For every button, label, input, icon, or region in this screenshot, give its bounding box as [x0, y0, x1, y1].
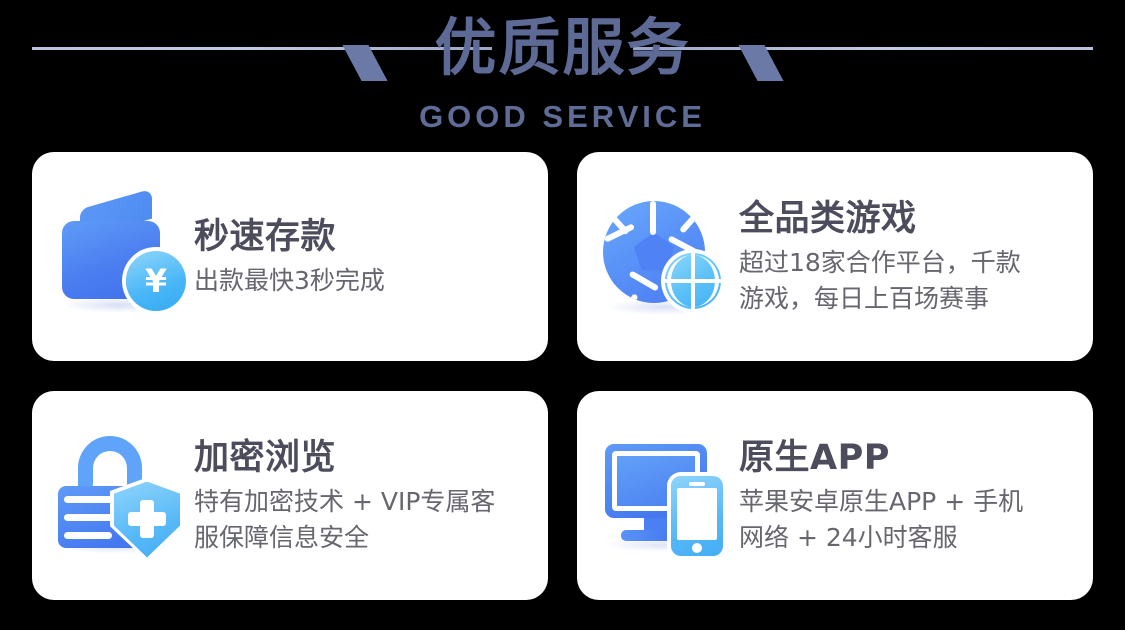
- feature-card-title: 加密浏览: [194, 436, 530, 480]
- feature-card-text: 全品类游戏 超过18家合作平台，千款 游戏，每日上百场赛事: [739, 197, 1075, 317]
- feature-card-subtitle-line: 苹果安卓原生APP + 手机: [739, 484, 1075, 520]
- basketball-seam: [667, 255, 719, 307]
- monitor-phone-icon: [599, 430, 731, 562]
- soccer-seam: [679, 210, 701, 233]
- feature-card-native-app[interactable]: 原生APP 苹果安卓原生APP + 手机 网络 + 24小时客服: [577, 391, 1093, 600]
- wallet-yen-icon: ¥: [54, 191, 186, 323]
- lock-slot: [64, 496, 116, 503]
- feature-card-subtitle-line: 服保障信息安全: [194, 520, 530, 556]
- feature-card-title: 全品类游戏: [739, 197, 1075, 241]
- feature-card-games[interactable]: 全品类游戏 超过18家合作平台，千款 游戏，每日上百场赛事: [577, 152, 1093, 361]
- feature-card-subtitle-line: 出款最快3秒完成: [194, 263, 530, 299]
- soccer-seam: [650, 201, 656, 235]
- basketball-icon: [665, 253, 721, 309]
- phone-speaker: [689, 482, 705, 486]
- phone-icon: [671, 476, 723, 556]
- phone-home-button: [692, 543, 702, 553]
- page-subtitle: GOOD SERVICE: [0, 98, 1125, 136]
- yen-coin-icon: ¥: [126, 251, 186, 311]
- feature-card-text: 加密浏览 特有加密技术 + VIP专属客 服保障信息安全: [194, 436, 530, 556]
- feature-card-title: 原生APP: [739, 436, 1075, 480]
- feature-card-subtitle-line: 特有加密技术 + VIP专属客: [194, 484, 530, 520]
- feature-card-text: 秒速存款 出款最快3秒完成: [194, 215, 530, 299]
- feature-card-deposit[interactable]: ¥ 秒速存款 出款最快3秒完成: [32, 152, 548, 361]
- phone-screen: [677, 488, 717, 540]
- feature-card-title: 秒速存款: [194, 215, 530, 259]
- cross-icon: [128, 512, 166, 526]
- feature-card-encryption[interactable]: 加密浏览 特有加密技术 + VIP专属客 服保障信息安全: [32, 391, 548, 600]
- feature-card-subtitle-line: 网络 + 24小时客服: [739, 520, 1075, 556]
- feature-card-subtitle-line: 游戏，每日上百场赛事: [739, 281, 1075, 317]
- feature-card-subtitle-line: 超过18家合作平台，千款: [739, 245, 1075, 281]
- page-header: 优质服务 GOOD SERVICE: [0, 0, 1125, 145]
- soccer-seam: [629, 270, 660, 291]
- feature-card-grid: ¥ 秒速存款 出款最快3秒完成: [32, 152, 1093, 600]
- feature-card-text: 原生APP 苹果安卓原生APP + 手机 网络 + 24小时客服: [739, 436, 1075, 556]
- soccer-basketball-icon: [599, 191, 731, 323]
- lock-slot: [64, 532, 112, 539]
- lock-shield-icon: [54, 430, 186, 562]
- page-title: 优质服务: [0, 8, 1125, 88]
